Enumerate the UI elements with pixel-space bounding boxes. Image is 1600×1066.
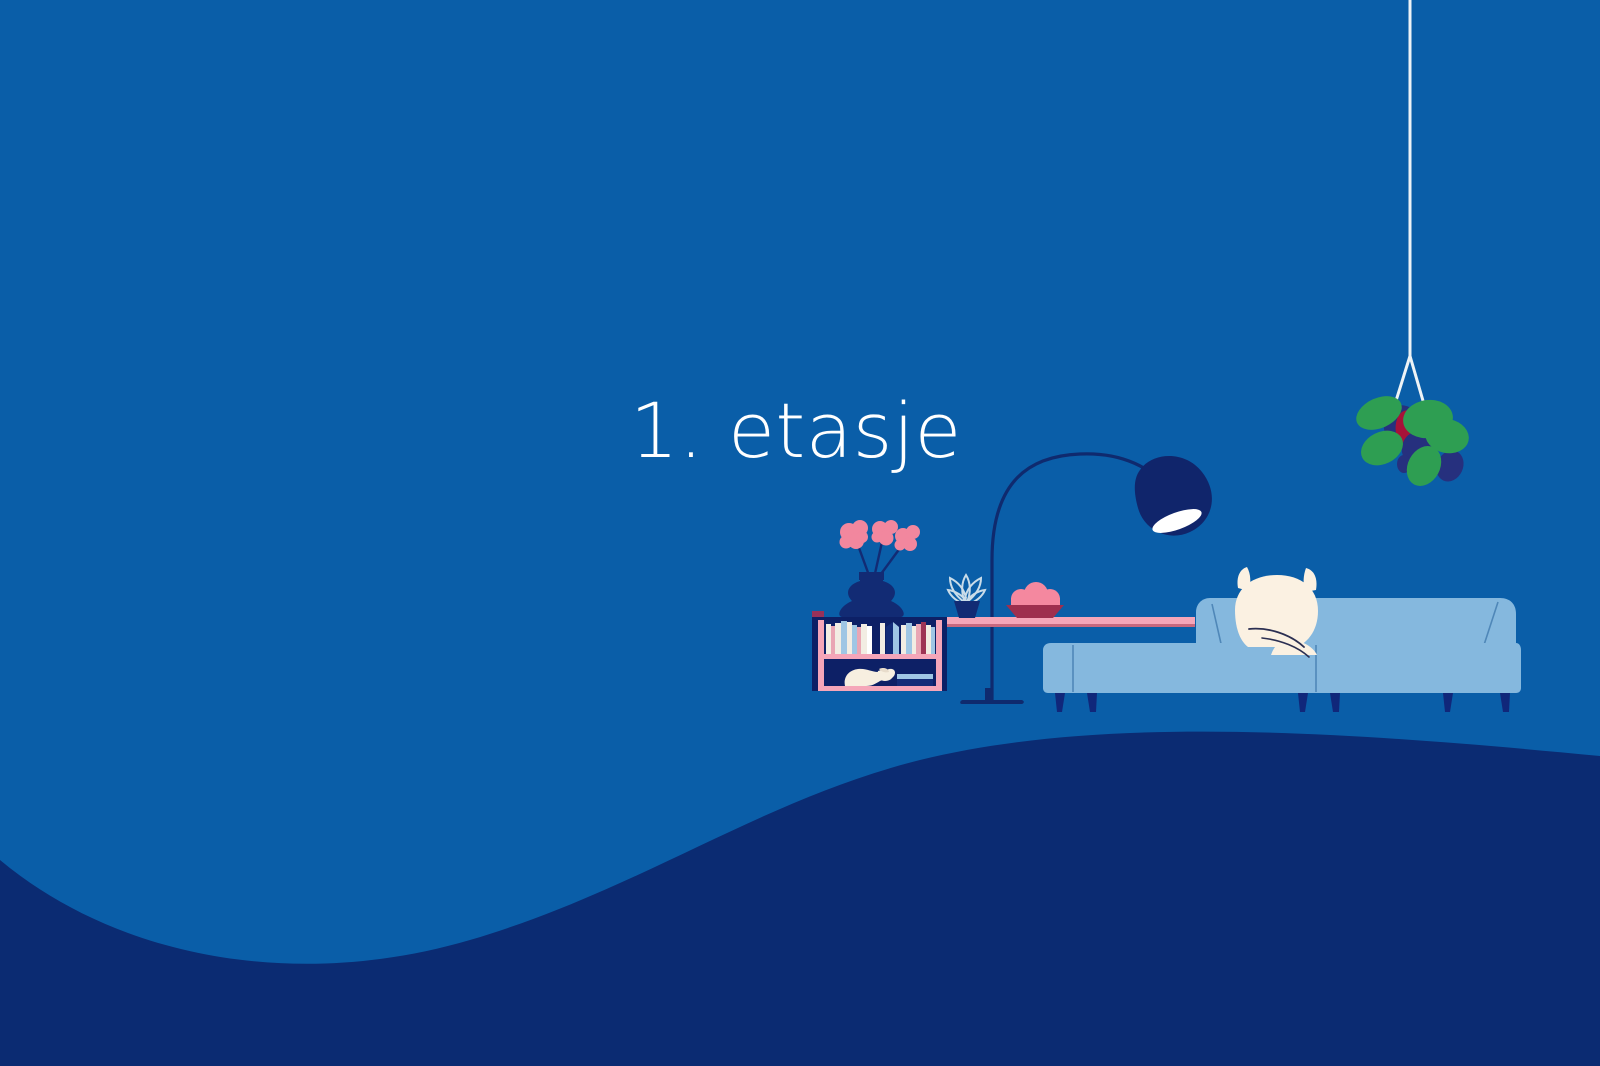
arc-lamp-base (960, 700, 1024, 704)
bookshelf-flat-book-bottom (897, 679, 933, 686)
vase-neck (859, 572, 884, 580)
bookshelf-middle-divider (818, 654, 942, 659)
bookshelf-bottom-rail (818, 686, 942, 691)
sleeping-cat-head (1235, 575, 1318, 647)
bookshelf-flat-book-top (897, 674, 933, 679)
bookshelf (812, 617, 947, 691)
bookshelf-books (826, 621, 935, 654)
arc-lamp-base-stem (985, 688, 991, 702)
illustration-canvas: 1. etasje (0, 0, 1600, 1066)
living-room-scene (0, 0, 1600, 1066)
